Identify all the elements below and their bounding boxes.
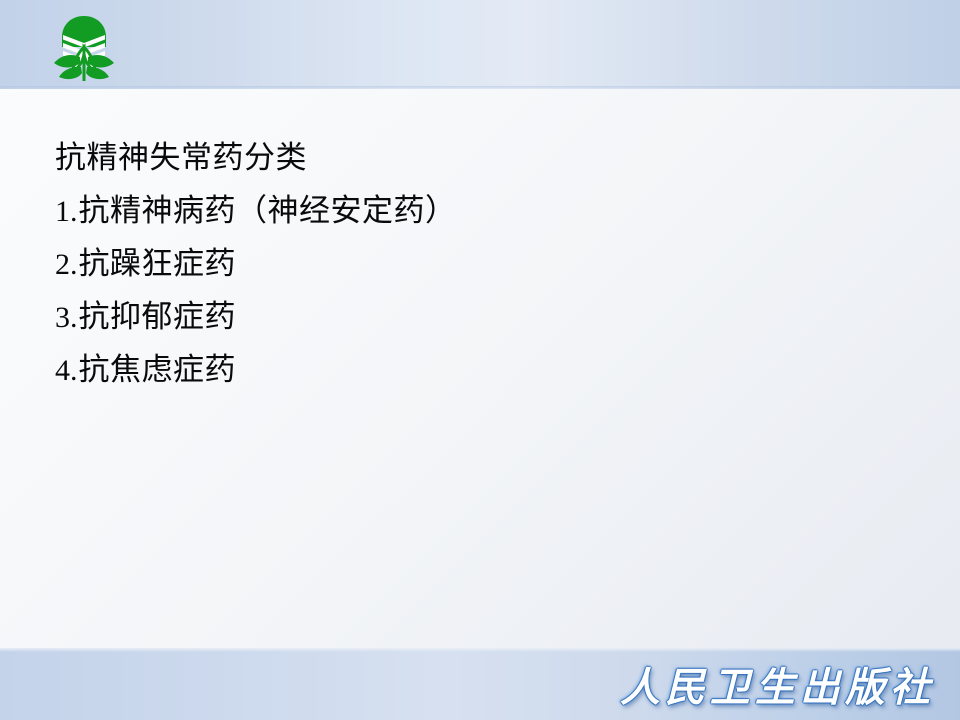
slide-title: 抗精神失常药分类	[55, 132, 915, 185]
slide-footer-band: 人民卫生出版社	[0, 648, 960, 720]
list-item-label: 抗焦虑症药	[79, 352, 237, 388]
list-item-label: 抗抑郁症药	[79, 299, 237, 335]
list-item: 1.抗精神病药（神经安定药）	[55, 185, 915, 238]
publisher-logo	[47, 13, 121, 83]
list-item: 3.抗抑郁症药	[55, 291, 915, 344]
slide-body: 抗精神失常药分类 1.抗精神病药（神经安定药） 2.抗躁狂症药 3.抗抑郁症药 …	[0, 89, 960, 648]
list-item-label: 抗躁狂症药	[79, 246, 237, 282]
drug-classification-list: 抗精神失常药分类 1.抗精神病药（神经安定药） 2.抗躁狂症药 3.抗抑郁症药 …	[55, 132, 915, 397]
list-item-number: 4.	[55, 354, 79, 387]
list-item: 2.抗躁狂症药	[55, 238, 915, 291]
publisher-wordmark: 人民卫生出版社	[620, 655, 935, 713]
slide-canvas: 抗精神失常药分类 1.抗精神病药（神经安定药） 2.抗躁狂症药 3.抗抑郁症药 …	[0, 0, 960, 720]
list-item-number: 3.	[55, 301, 79, 334]
pmph-plant-logo-icon	[47, 13, 121, 83]
list-item-number: 2.	[55, 248, 79, 281]
list-item: 4.抗焦虑症药	[55, 344, 915, 397]
list-item-number: 1.	[55, 195, 79, 228]
list-item-label: 抗精神病药（神经安定药）	[79, 193, 457, 229]
slide-header-band	[0, 0, 960, 89]
